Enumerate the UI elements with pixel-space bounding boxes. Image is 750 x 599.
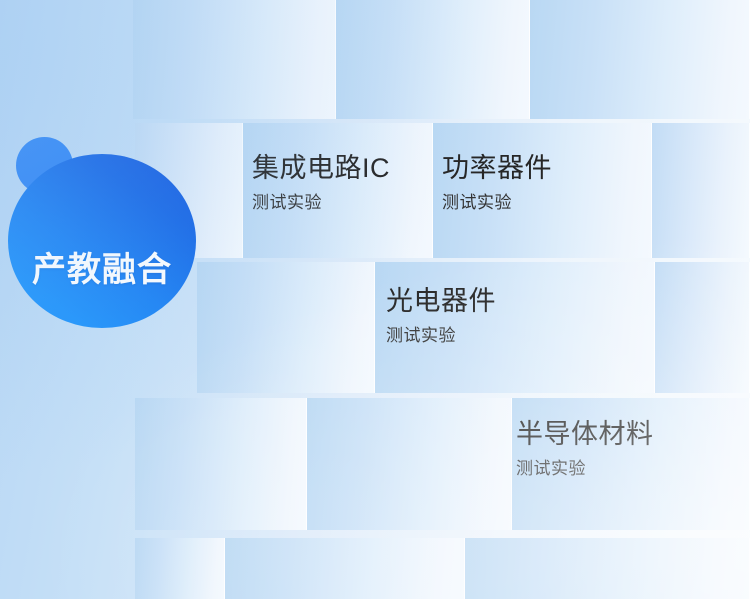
category-label-power-device: 功率器件 测试实验 bbox=[442, 154, 552, 213]
badge-label: 产教融合 bbox=[0, 154, 204, 328]
brick-tile bbox=[307, 398, 512, 530]
brick-tile bbox=[135, 538, 225, 599]
brick-tile bbox=[135, 398, 307, 530]
category-subtitle: 测试实验 bbox=[386, 326, 496, 346]
category-label-optoelectronic-device: 光电器件 测试实验 bbox=[386, 287, 496, 346]
category-label-semiconductor-material: 半导体材料 测试实验 bbox=[516, 420, 654, 479]
brick-row bbox=[0, 0, 750, 119]
category-title: 功率器件 bbox=[442, 154, 552, 184]
brick-tile bbox=[0, 398, 135, 530]
brick-tile bbox=[652, 123, 750, 258]
brick-tile bbox=[0, 538, 135, 599]
brick-row bbox=[0, 538, 750, 599]
brand-badge: 产教融合 bbox=[0, 130, 210, 310]
brick-tile bbox=[133, 0, 336, 119]
category-title: 集成电路IC bbox=[252, 154, 390, 184]
category-title: 半导体材料 bbox=[516, 420, 654, 450]
brick-tile bbox=[197, 262, 375, 393]
brick-tile bbox=[0, 0, 133, 119]
category-subtitle: 测试实验 bbox=[516, 459, 654, 479]
brick-tile bbox=[530, 0, 750, 119]
category-subtitle: 测试实验 bbox=[442, 193, 552, 213]
brick-tile bbox=[655, 262, 750, 393]
brick-tile bbox=[465, 538, 750, 599]
brick-tile bbox=[336, 0, 530, 119]
promo-banner: 产教融合 集成电路IC 测试实验 功率器件 测试实验 光电器件 测试实验 半导体… bbox=[0, 0, 750, 599]
brick-tile bbox=[225, 538, 465, 599]
category-title: 光电器件 bbox=[386, 287, 496, 317]
category-label-integrated-circuit: 集成电路IC 测试实验 bbox=[252, 154, 390, 213]
category-subtitle: 测试实验 bbox=[252, 193, 390, 213]
